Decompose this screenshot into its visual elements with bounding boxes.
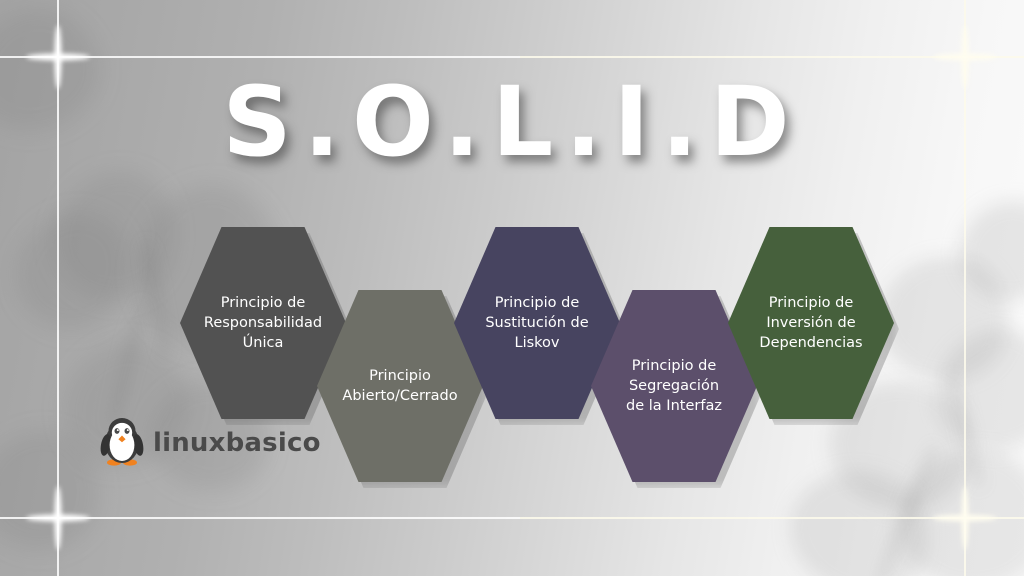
principle-label: Principio Abierto/Cerrado: [342, 366, 457, 406]
leaf-shadow: [924, 318, 1024, 461]
leaf-shadow: [952, 192, 1024, 308]
slide-canvas: S.O.L.I.D Principio de Responsabilidad Ú…: [0, 0, 1024, 576]
grid-line-horizontal-top-left: [0, 56, 520, 58]
leaf-shadow: [0, 192, 149, 348]
leaf-stem-shadow: [140, 240, 173, 360]
principle-label: Principio de Inversión de Dependencias: [759, 293, 862, 353]
leaf-stem-shadow: [946, 370, 987, 489]
principle-label: Principio de Segregación de la Interfaz: [626, 356, 722, 416]
leaf-stem-shadow: [872, 443, 941, 576]
sparkle-bottom-left-icon: [26, 486, 90, 550]
leaf-shadow: [770, 446, 951, 576]
grid-line-horizontal-bottom-left: [0, 517, 520, 519]
grid-line-horizontal-bottom-right: [520, 517, 1024, 519]
grid-line-vertical-left-lower: [57, 300, 59, 576]
principle-label: Principio de Responsabilidad Única: [204, 293, 322, 353]
grid-line-horizontal-top-right: [520, 56, 1024, 58]
sparkle-bottom-right-icon: [933, 486, 997, 550]
page-title: S.O.L.I.D: [0, 72, 1024, 173]
leaf-shadow: [893, 443, 1024, 576]
leaf-shadow: [43, 159, 187, 311]
leaf-shadow: [0, 422, 108, 558]
penguin-icon: [100, 415, 144, 471]
brand-logo[interactable]: linuxbasico: [100, 415, 321, 471]
principle-label: Principio de Sustitución de Liskov: [485, 293, 588, 353]
brand-name: linuxbasico: [153, 428, 321, 458]
leaf-stem-shadow: [104, 300, 149, 430]
